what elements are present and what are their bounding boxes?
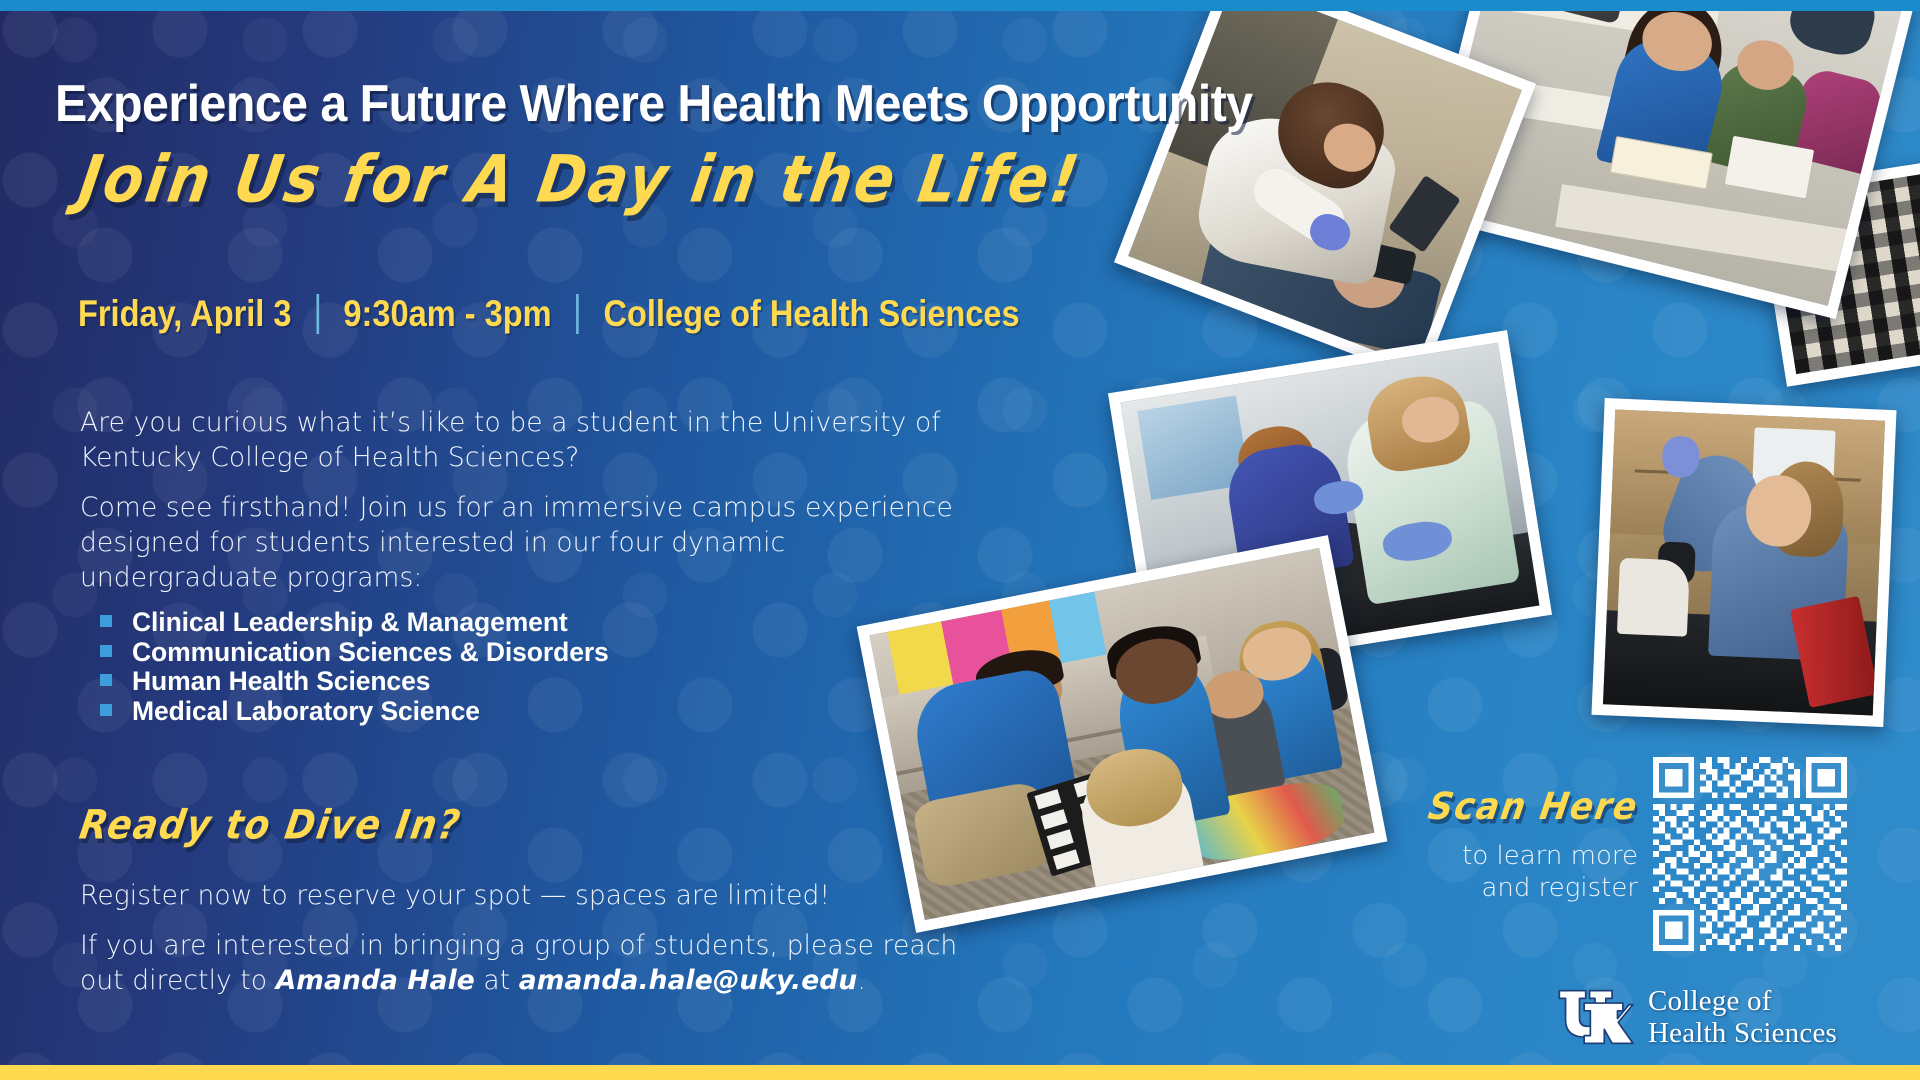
contact-email-link[interactable]: amanda.hale@uky.edu: [519, 965, 858, 996]
poster-canvas: Experience a Future Where Health Meets O…: [0, 0, 1920, 1080]
event-date: Friday, April 3: [78, 293, 292, 335]
photo-lab-student-holding-specimen-slide-at-microscope: [1591, 398, 1896, 727]
group-contact-line: If you are interested in bringing a grou…: [80, 928, 980, 998]
bullet-square-icon: [100, 704, 112, 716]
bullet-square-icon: [100, 615, 112, 627]
description-paragraph: Come see firsthand! Join us for an immer…: [80, 490, 980, 596]
logo-line-2: Health Sciences: [1648, 1017, 1837, 1049]
picture-card: [1041, 809, 1068, 829]
qr-code[interactable]: [1653, 757, 1847, 951]
logo-wordmark: College of Health Sciences: [1648, 985, 1837, 1050]
event-time: 9:30am - 3pm: [343, 293, 551, 335]
cta-heading: Ready to Dive In?: [76, 803, 464, 849]
page-title: Experience a Future Where Health Meets O…: [55, 78, 1059, 131]
picture-card: [1047, 829, 1074, 849]
event-meta-row: Friday, April 3 9:30am - 3pm College of …: [78, 293, 1020, 335]
meta-divider: [576, 294, 579, 334]
top-accent-bar: [0, 0, 1920, 11]
program-label: Communication Sciences & Disorders: [132, 638, 609, 668]
register-line: Register now to reserve your spot — spac…: [80, 878, 980, 913]
program-label: Human Health Sciences: [132, 667, 430, 697]
list-item: Communication Sciences & Disorders: [100, 638, 609, 668]
scan-here-block: Scan Here to learn more and register: [1348, 790, 1638, 904]
program-list: Clinical Leadership & Management Communi…: [100, 608, 609, 726]
bullet-square-icon: [100, 674, 112, 686]
list-item: Clinical Leadership & Management: [100, 608, 609, 638]
subtitle: Join Us for A Day in the Life!: [75, 147, 1285, 212]
logo-line-1: College of: [1648, 985, 1837, 1017]
program-label: Clinical Leadership & Management: [132, 608, 568, 638]
uk-college-of-health-sciences-logo: College of Health Sciences: [1556, 985, 1837, 1050]
intro-paragraph: Are you curious what it’s like to be a s…: [80, 405, 980, 475]
scan-subtitle-line-1: to learn more: [1348, 840, 1638, 872]
picture-card: [1053, 849, 1080, 869]
bullet-square-icon: [100, 645, 112, 657]
scan-here-subtitle: to learn more and register: [1348, 840, 1638, 904]
list-item: Human Health Sciences: [100, 667, 609, 697]
list-item: Medical Laboratory Science: [100, 697, 609, 727]
contact-at-text: at: [475, 965, 519, 996]
contact-name: Amanda Hale: [276, 965, 475, 996]
contact-period: .: [857, 965, 866, 996]
event-location: College of Health Sciences: [603, 293, 1019, 335]
scan-subtitle-line-2: and register: [1348, 872, 1638, 904]
bottom-accent-bar: [0, 1065, 1920, 1080]
uk-monogram-icon: [1556, 986, 1634, 1048]
picture-card: [1035, 789, 1062, 809]
scan-here-heading: Scan Here: [1345, 788, 1641, 825]
meta-divider: [316, 294, 319, 334]
program-label: Medical Laboratory Science: [132, 697, 480, 727]
